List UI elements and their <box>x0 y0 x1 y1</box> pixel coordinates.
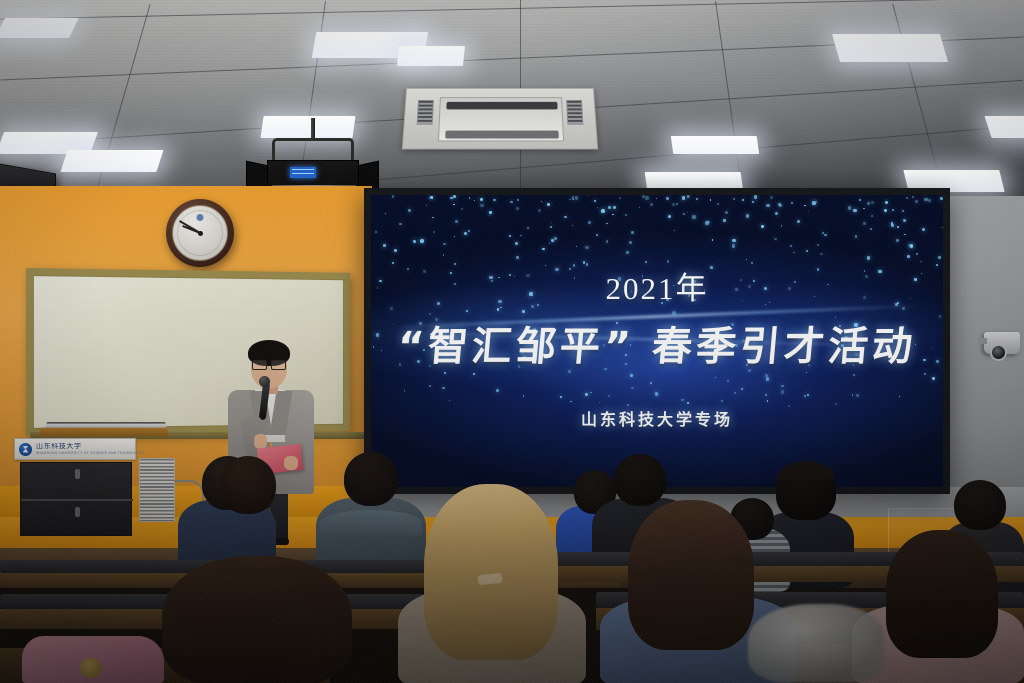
podium-speaker-grille <box>139 458 175 522</box>
ceiling-light-panel <box>984 116 1024 138</box>
projection-screen[interactable]: 2021年 “智汇邹平” 春季引才活动 山东科技大学专场 <box>364 188 950 494</box>
presenter-hand <box>284 456 298 470</box>
ac-louver <box>446 102 557 110</box>
audience-head <box>220 456 276 514</box>
podium-front-panel <box>20 462 132 536</box>
audience-member-long-dark-hair <box>162 556 352 683</box>
pink-backpack <box>22 636 164 683</box>
audience-member-front-left <box>212 456 284 538</box>
podium-nameplate: 山东科技大学 SHANDONG UNIVERSITY OF SCIENCE AN… <box>14 438 136 460</box>
ceiling-light-panel <box>0 18 79 38</box>
eyeglasses-icon <box>252 360 286 368</box>
security-camera-icon <box>984 332 1020 354</box>
audience-hair <box>424 484 558 660</box>
audience-head <box>614 454 666 506</box>
backpack-logo-patch <box>80 658 102 678</box>
screen-text-block: 2021年 “智汇邹平” 春季引才活动 山东科技大学专场 <box>371 195 943 487</box>
podium-nameplate-subtext: SHANDONG UNIVERSITY OF SCIENCE AND TECHN… <box>36 451 145 455</box>
fur-trim-hood <box>748 604 884 683</box>
ac-side-vent <box>566 100 583 125</box>
audience-head <box>954 480 1006 530</box>
ac-center-panel <box>438 97 564 141</box>
ceiling-air-conditioner-icon <box>402 88 598 150</box>
audience-hair <box>162 556 352 683</box>
lecture-hall-photo: 2021年 “智汇邹平” 春季引才活动 山东科技大学专场 <box>0 0 1024 683</box>
ceiling-light-panel <box>60 150 163 172</box>
screen-title-text: “智汇邹平” 春季引才活动 <box>395 314 919 372</box>
stage-light-lcd-icon <box>290 167 316 178</box>
podium-desktop <box>39 428 169 437</box>
ceiling-light-panel <box>671 136 760 154</box>
microphone-capsule <box>259 376 270 387</box>
ac-side-vent <box>417 100 434 125</box>
lectern-podium: 山东科技大学 SHANDONG UNIVERSITY OF SCIENCE AN… <box>6 432 190 546</box>
screen-year-text: 2021年 <box>606 263 709 308</box>
wall-clock <box>166 199 234 267</box>
camera-lens <box>990 344 1007 361</box>
clock-bezel-inner <box>177 210 223 256</box>
podium-nameplate-text: 山东科技大学 <box>36 443 145 450</box>
audience-member-blonde-hair <box>398 484 586 683</box>
screen-subtitle-text: 山东科技大学专场 <box>581 406 733 430</box>
audience-head <box>344 452 398 506</box>
podium-latch <box>75 469 80 479</box>
ceiling-light-panel <box>260 116 355 138</box>
ac-louver <box>445 131 559 139</box>
podium-panel-seam <box>21 499 133 501</box>
ceiling-light-panel <box>832 34 948 62</box>
podium-latch <box>75 507 80 517</box>
audience-hair <box>886 530 998 658</box>
stage-light-mount-rod <box>311 118 315 140</box>
audience-hair <box>628 500 754 650</box>
university-emblem-icon <box>19 443 32 456</box>
camera-mount-arm <box>978 338 987 344</box>
ceiling <box>0 0 1024 215</box>
clock-face <box>172 205 228 261</box>
audience-hair-spikes <box>772 458 840 480</box>
ceiling-light-panel <box>397 46 465 66</box>
